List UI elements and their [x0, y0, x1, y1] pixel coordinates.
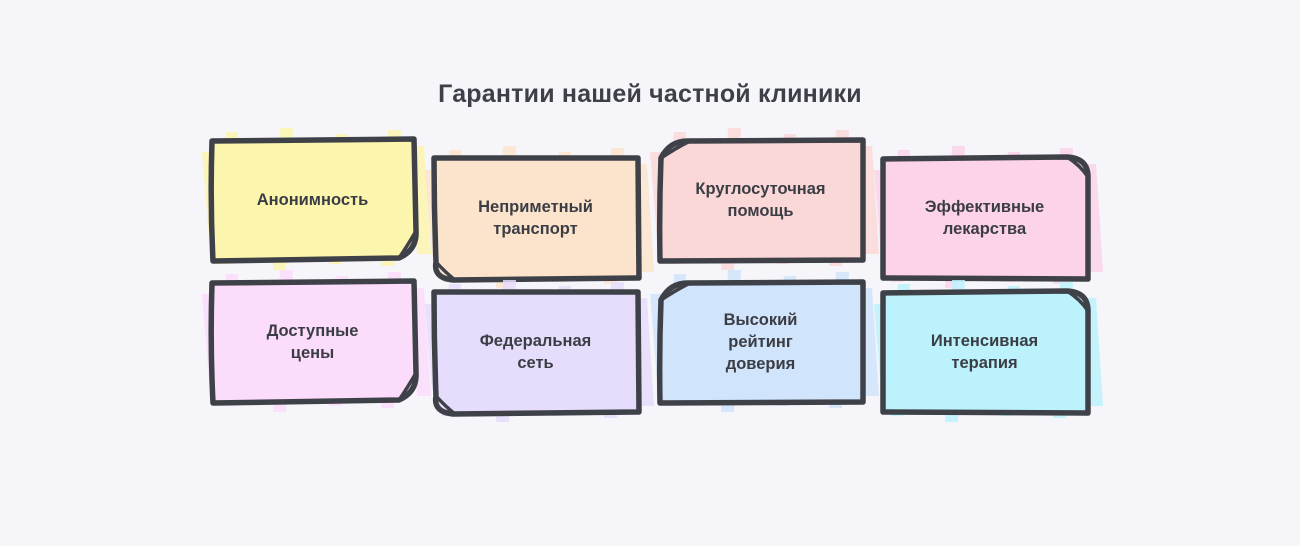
page-title: Гарантии нашей частной клиники [0, 80, 1300, 109]
guarantee-card[interactable]: Круглосуточная помощь [658, 140, 863, 262]
card-label: Неприметный транспорт [433, 158, 638, 280]
card-label: Интенсивная терапия [882, 292, 1087, 414]
guarantee-card-grid: Анонимность Неприметный транспорт Кругло… [210, 140, 1100, 430]
guarantee-card[interactable]: Анонимность [210, 140, 415, 262]
card-label: Федеральная сеть [433, 292, 638, 414]
card-label: Анонимность [210, 140, 415, 262]
guarantee-card[interactable]: Высокий рейтинг доверия [658, 282, 863, 404]
guarantee-card[interactable]: Интенсивная терапия [882, 292, 1087, 414]
infographic-page: Гарантии нашей частной клиники Анонимнос… [0, 0, 1300, 546]
guarantee-card[interactable]: Федеральная сеть [433, 292, 638, 414]
guarantee-card[interactable]: Эффективные лекарства [882, 158, 1087, 280]
guarantee-card[interactable]: Доступные цены [210, 282, 415, 404]
card-label: Доступные цены [210, 282, 415, 404]
guarantee-card[interactable]: Неприметный транспорт [433, 158, 638, 280]
card-label: Высокий рейтинг доверия [658, 282, 863, 404]
card-label: Эффективные лекарства [882, 158, 1087, 280]
card-label: Круглосуточная помощь [658, 140, 863, 262]
